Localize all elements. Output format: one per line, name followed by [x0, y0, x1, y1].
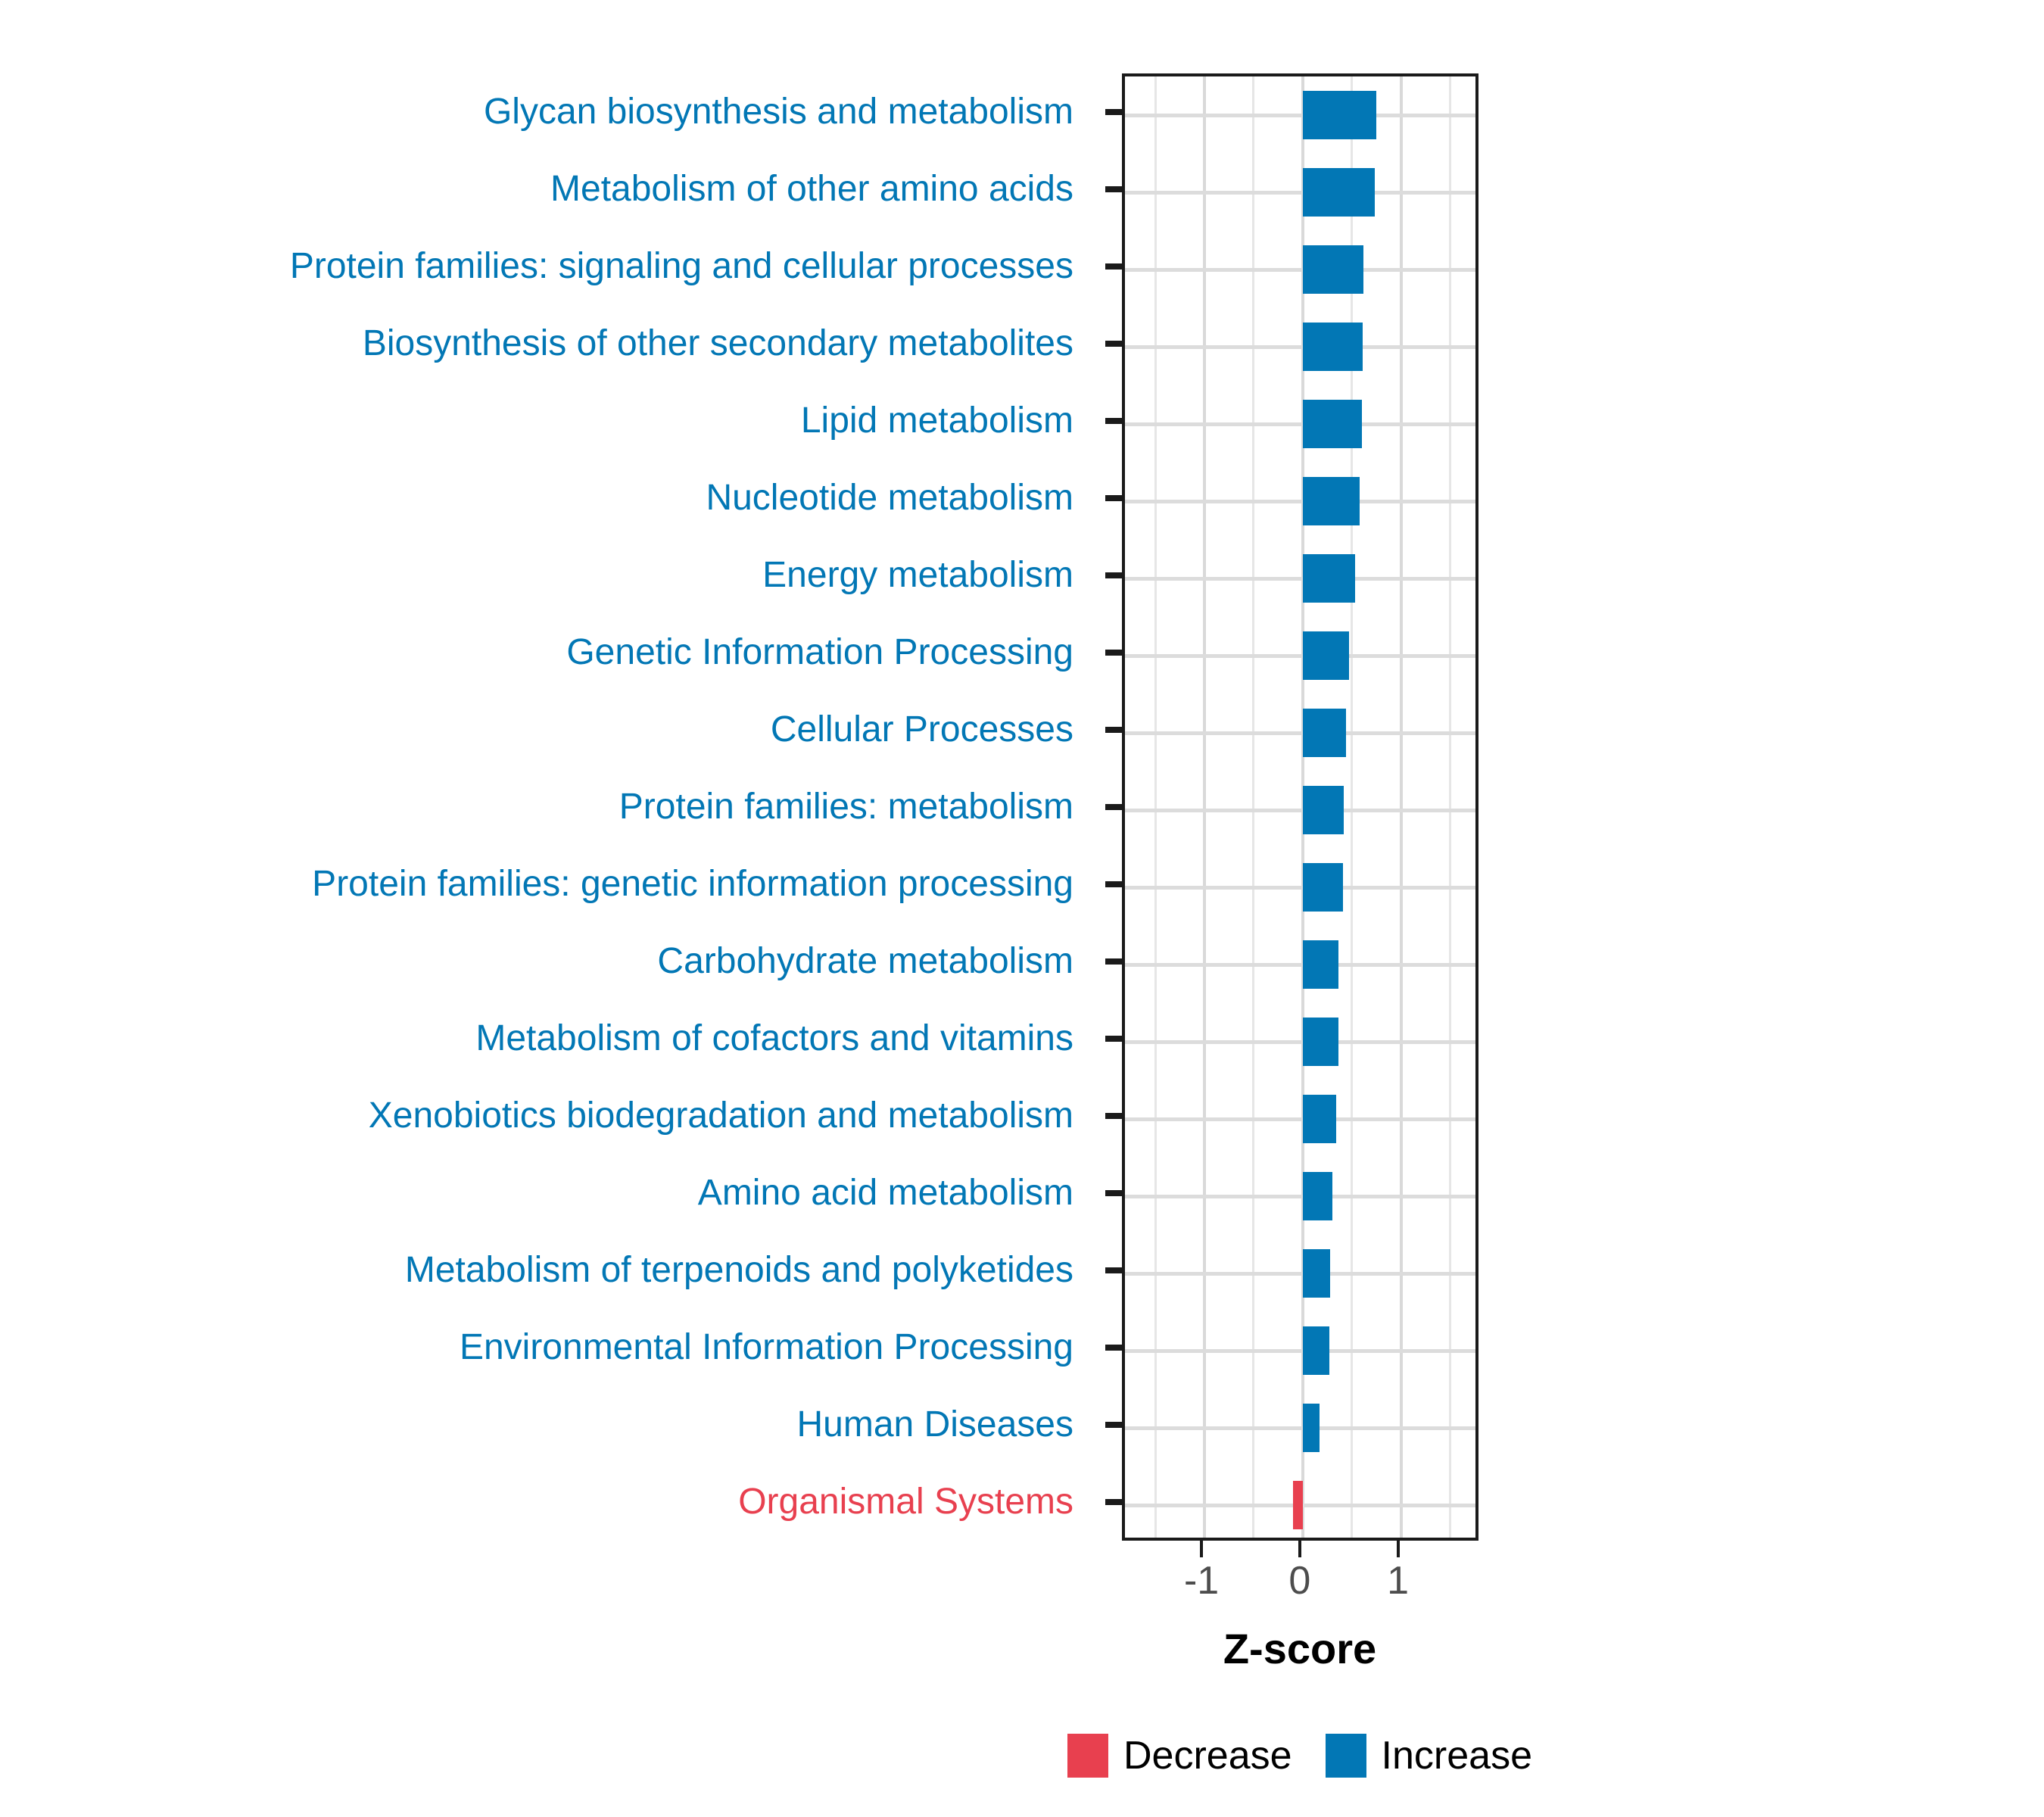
bar: [1293, 1481, 1303, 1529]
bar: [1303, 1404, 1320, 1451]
horizontal-gridline: [1125, 809, 1475, 812]
x-axis-tick: [1298, 1541, 1301, 1557]
y-axis-tick: [1105, 650, 1122, 656]
bar: [1303, 940, 1338, 988]
y-axis-tick: [1105, 341, 1122, 347]
vertical-gridline-minor: [1154, 76, 1157, 1538]
horizontal-gridline: [1125, 731, 1475, 735]
legend-item-decrease[interactable]: Decrease: [1067, 1734, 1292, 1778]
horizontal-gridline: [1125, 500, 1475, 503]
bar: [1303, 1095, 1336, 1142]
y-axis-label: Nucleotide metabolism: [706, 480, 1073, 516]
legend-item-increase[interactable]: Increase: [1326, 1734, 1532, 1778]
horizontal-gridline: [1125, 1040, 1475, 1044]
plot-panel: [1122, 73, 1478, 1541]
bar: [1303, 1249, 1330, 1297]
bar: [1303, 709, 1346, 756]
x-axis-title: Z-score: [1223, 1624, 1376, 1673]
y-axis-label: Genetic Information Processing: [566, 634, 1073, 671]
y-axis-tick: [1105, 881, 1122, 887]
y-axis-label: Human Diseases: [797, 1407, 1073, 1443]
x-axis-tick-label: 1: [1387, 1561, 1409, 1600]
y-axis-tick: [1105, 418, 1122, 424]
y-axis-label: Metabolism of other amino acids: [550, 171, 1073, 207]
y-axis-label: Xenobiotics biodegradation and metabolis…: [369, 1098, 1073, 1134]
legend-swatch-decrease: [1067, 1734, 1108, 1778]
y-axis-label: Cellular Processes: [771, 712, 1073, 748]
y-axis-tick: [1105, 1113, 1122, 1119]
horizontal-gridline: [1125, 191, 1475, 195]
horizontal-gridline: [1125, 654, 1475, 658]
y-axis-tick: [1105, 804, 1122, 810]
bar: [1303, 786, 1344, 834]
horizontal-gridline: [1125, 345, 1475, 349]
horizontal-gridline: [1125, 1272, 1475, 1276]
y-axis-label: Metabolism of terpenoids and polyketides: [405, 1252, 1073, 1289]
y-axis-tick: [1105, 1422, 1122, 1428]
vertical-gridline: [1400, 76, 1403, 1538]
horizontal-gridline: [1125, 422, 1475, 426]
y-axis-tick: [1105, 1499, 1122, 1505]
y-axis-tick: [1105, 727, 1122, 733]
bar: [1303, 1018, 1338, 1065]
y-axis-label: Protein families: genetic information pr…: [312, 866, 1073, 902]
y-axis-tick: [1105, 109, 1122, 115]
bar: [1303, 400, 1362, 447]
legend: Decrease Increase: [1051, 1734, 1549, 1778]
x-axis-tick: [1397, 1541, 1400, 1557]
y-axis-tick: [1105, 186, 1122, 192]
bar: [1303, 1326, 1329, 1374]
y-axis-tick: [1105, 1267, 1122, 1273]
vertical-gridline-minor: [1351, 76, 1353, 1538]
vertical-gridline: [1203, 76, 1206, 1538]
bar: [1303, 168, 1375, 216]
y-axis-label: Protein families: metabolism: [619, 789, 1073, 825]
y-axis-tick: [1105, 263, 1122, 270]
horizontal-gridline: [1125, 268, 1475, 272]
x-axis-tick: [1200, 1541, 1203, 1557]
horizontal-gridline: [1125, 1349, 1475, 1353]
horizontal-gridline: [1125, 886, 1475, 890]
y-axis-label: Protein families: signaling and cellular…: [290, 248, 1073, 285]
y-axis-label: Amino acid metabolism: [698, 1175, 1073, 1211]
x-axis-tick-label: -1: [1184, 1561, 1219, 1600]
horizontal-gridline: [1125, 963, 1475, 967]
horizontal-gridline: [1125, 114, 1475, 117]
bar: [1303, 91, 1376, 139]
horizontal-gridline: [1125, 577, 1475, 581]
y-axis-labels: Glycan biosynthesis and metabolismMetabo…: [0, 73, 1098, 1541]
y-axis-label: Glycan biosynthesis and metabolism: [484, 94, 1073, 130]
legend-label-decrease: Decrease: [1123, 1736, 1292, 1775]
bar: [1303, 631, 1349, 679]
y-axis-tick: [1105, 1345, 1122, 1351]
bar: [1303, 554, 1355, 602]
y-axis-tick: [1105, 1190, 1122, 1196]
y-axis-label: Organismal Systems: [738, 1484, 1073, 1520]
horizontal-gridline: [1125, 1426, 1475, 1430]
y-axis-label: Lipid metabolism: [801, 403, 1073, 439]
y-axis-tick: [1105, 572, 1122, 578]
vertical-gridline-minor: [1449, 76, 1451, 1538]
legend-swatch-increase: [1326, 1734, 1366, 1778]
horizontal-gridline: [1125, 1117, 1475, 1121]
y-axis-label: Environmental Information Processing: [460, 1329, 1073, 1366]
bar: [1303, 323, 1363, 370]
y-axis-label: Metabolism of cofactors and vitamins: [475, 1021, 1073, 1057]
bar: [1303, 245, 1363, 293]
y-axis-label: Carbohydrate metabolism: [657, 943, 1073, 980]
bar: [1303, 1172, 1332, 1220]
legend-label-increase: Increase: [1382, 1736, 1532, 1775]
vertical-gridline-minor: [1252, 76, 1254, 1538]
bar: [1303, 477, 1360, 525]
y-axis-tick: [1105, 1036, 1122, 1042]
bar-chart: Glycan biosynthesis and metabolismMetabo…: [0, 0, 2044, 1817]
y-axis-label: Energy metabolism: [762, 557, 1073, 594]
bar: [1303, 863, 1343, 911]
horizontal-gridline: [1125, 1195, 1475, 1198]
y-axis-tick: [1105, 958, 1122, 965]
y-axis-label: Biosynthesis of other secondary metaboli…: [363, 326, 1073, 362]
y-axis-tick: [1105, 495, 1122, 501]
x-axis-tick-label: 0: [1288, 1561, 1310, 1600]
